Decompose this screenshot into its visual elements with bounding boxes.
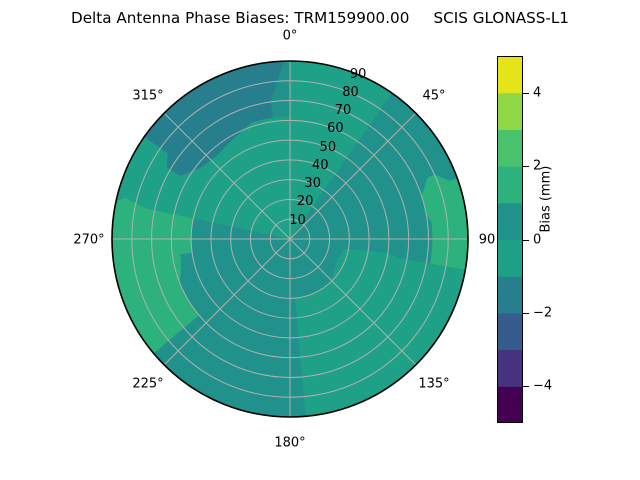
colorbar-band bbox=[497, 350, 523, 387]
colorbar-tick-label: −2 bbox=[533, 305, 552, 320]
radial-tick-label: 30 bbox=[304, 176, 321, 191]
polar-gridlines bbox=[112, 61, 468, 417]
azimuth-label-0: 0° bbox=[283, 29, 298, 44]
colorbar-gradient bbox=[497, 56, 523, 423]
colorbar-tick-mark bbox=[523, 386, 529, 387]
radial-tick-label: 90 bbox=[350, 67, 367, 82]
colorbar-band bbox=[497, 166, 523, 203]
radial-tick-label: 60 bbox=[327, 121, 344, 136]
colorbar-tick-label: 0 bbox=[533, 232, 541, 247]
page-title: Delta Antenna Phase Biases: TRM159900.00… bbox=[0, 8, 640, 28]
azimuth-label-135: 135° bbox=[418, 377, 449, 392]
colorbar-tick-mark bbox=[523, 166, 529, 167]
radial-tick-label: 80 bbox=[342, 85, 359, 100]
figure-canvas: Delta Antenna Phase Biases: TRM159900.00… bbox=[0, 0, 640, 480]
azimuth-label-225: 225° bbox=[132, 377, 163, 392]
colorbar-band bbox=[497, 203, 523, 240]
colorbar-band bbox=[497, 276, 523, 313]
radial-tick-label: 70 bbox=[335, 103, 352, 118]
azimuth-label-180: 180° bbox=[274, 436, 305, 451]
colorbar-band bbox=[497, 313, 523, 350]
azimuth-label-315: 315° bbox=[132, 89, 163, 104]
polar-heatmap bbox=[110, 59, 470, 419]
azimuth-label-90: 90 bbox=[479, 233, 496, 248]
colorbar[interactable] bbox=[497, 56, 523, 423]
colorbar-tick-label: −4 bbox=[533, 379, 552, 394]
radial-tick-label: 20 bbox=[297, 194, 314, 209]
colorbar-band bbox=[497, 386, 523, 423]
colorbar-band bbox=[497, 56, 523, 93]
radial-tick-label: 40 bbox=[312, 158, 329, 173]
radial-tick-label: 50 bbox=[320, 140, 337, 155]
colorbar-tick-mark bbox=[523, 313, 529, 314]
colorbar-band bbox=[497, 240, 523, 277]
colorbar-band bbox=[497, 129, 523, 166]
azimuth-label-270: 270° bbox=[73, 233, 104, 248]
colorbar-axis-label: Bias (mm) bbox=[539, 166, 554, 233]
colorbar-tick-label: 4 bbox=[533, 85, 541, 100]
colorbar-tick-mark bbox=[523, 240, 529, 241]
colorbar-tick-mark bbox=[523, 93, 529, 94]
colorbar-band bbox=[497, 93, 523, 130]
radial-tick-label: 10 bbox=[289, 213, 306, 228]
azimuth-label-45: 45° bbox=[422, 89, 445, 104]
polar-plot-area[interactable] bbox=[110, 59, 470, 419]
